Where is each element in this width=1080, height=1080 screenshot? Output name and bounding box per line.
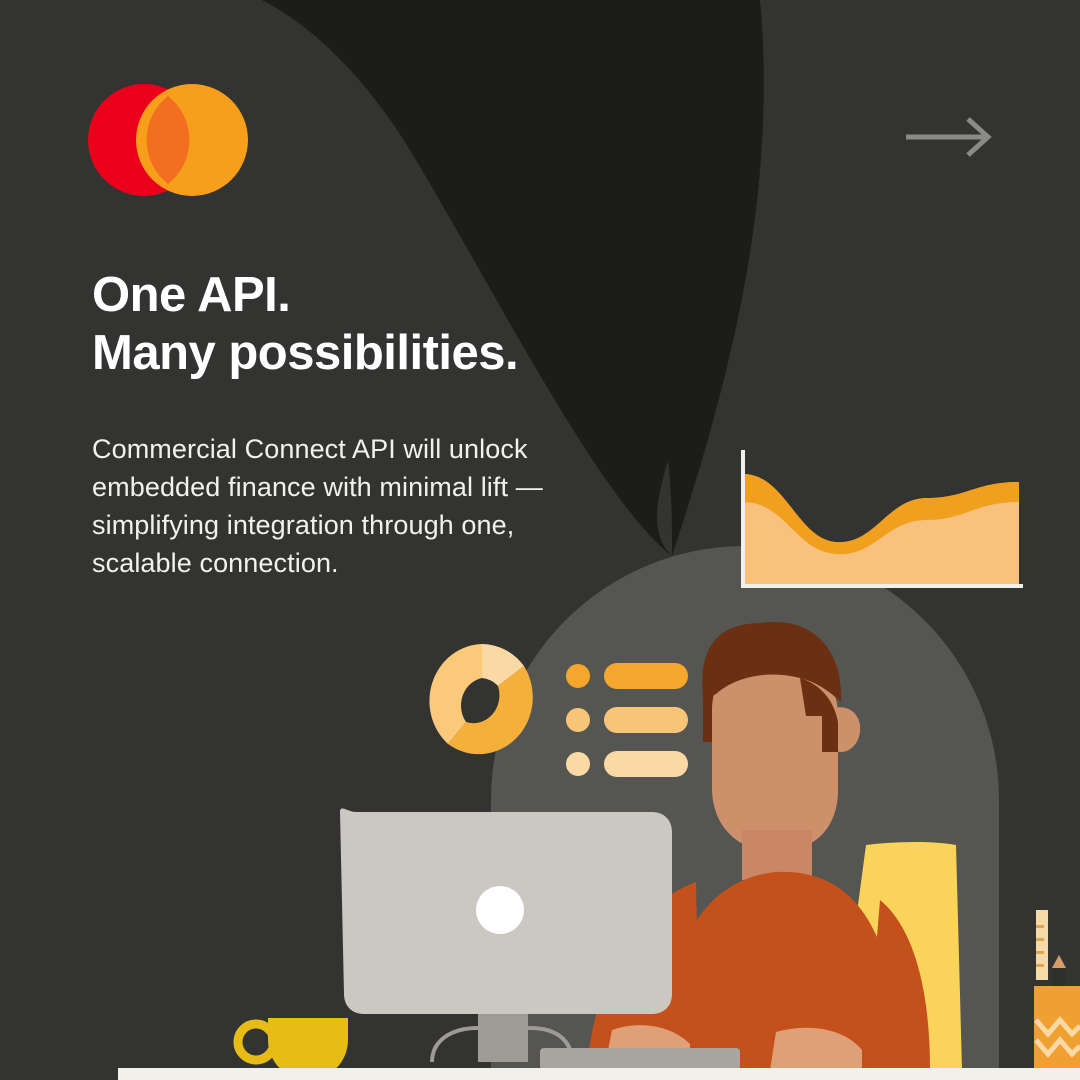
list-item <box>566 752 688 776</box>
legend-dot-icon <box>566 708 590 732</box>
copy-block: One API. Many possibilities. Commercial … <box>92 266 612 582</box>
legend-bar <box>604 707 688 733</box>
mastercard-logo[interactable] <box>88 84 248 196</box>
social-card-canvas: One API. Many possibilities. Commercial … <box>0 0 1080 1080</box>
copy-spacer <box>92 382 612 430</box>
page-title: One API. Many possibilities. <box>92 266 612 382</box>
pencil-holder <box>1034 910 1080 1072</box>
chart-legend <box>566 664 688 760</box>
body-paragraph: Commercial Connect API will unlock embed… <box>92 430 612 582</box>
area-chart <box>735 446 1027 592</box>
donut-chart <box>420 636 544 766</box>
ruler <box>1036 910 1048 980</box>
desk-surface <box>118 1068 1080 1080</box>
list-item <box>566 664 688 688</box>
laptop-stand <box>478 1014 528 1062</box>
keyboard <box>540 1048 740 1070</box>
headline-line-1: One API. <box>92 268 290 322</box>
legend-dot-icon <box>566 752 590 776</box>
list-item <box>566 708 688 732</box>
laptop-logo-icon <box>476 886 524 934</box>
legend-bar <box>604 751 688 777</box>
headline-line-2: Many possibilities. <box>92 324 612 382</box>
legend-dot-icon <box>566 664 590 688</box>
arrow-right-icon[interactable] <box>900 112 1000 162</box>
legend-bar <box>604 663 688 689</box>
